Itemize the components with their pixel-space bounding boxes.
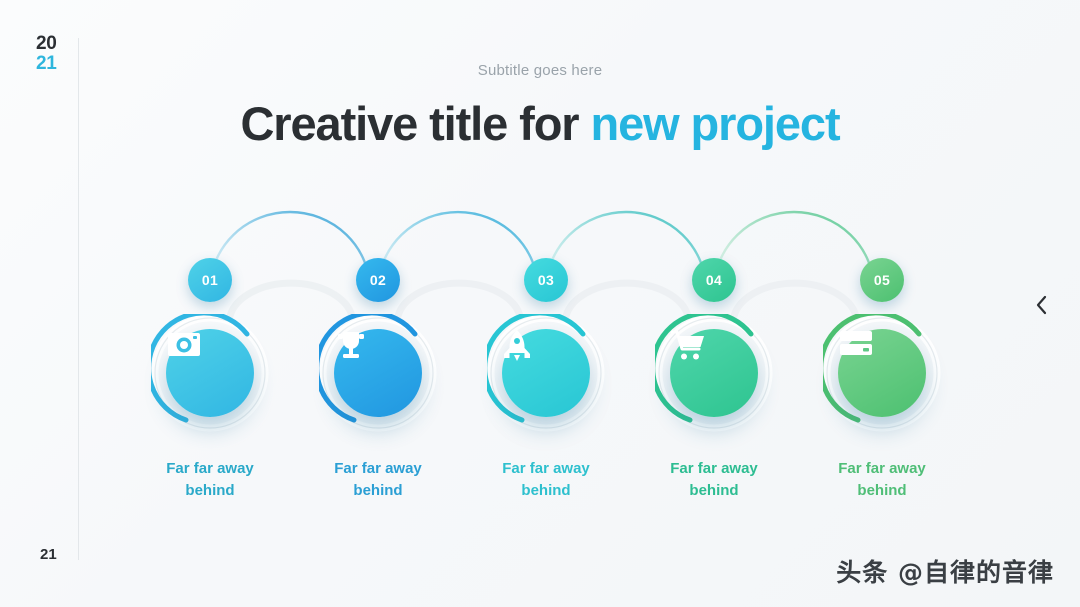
step-number: 05 xyxy=(874,272,890,288)
process-steps: 01 Far far away xyxy=(120,190,960,530)
step-icon-disc xyxy=(502,329,590,417)
subtitle: Subtitle goes here xyxy=(0,62,1080,79)
rocket-icon xyxy=(502,329,532,363)
step-badge: 04 xyxy=(692,258,736,302)
step-badge: 02 xyxy=(356,258,400,302)
caption-line-1: Far far away xyxy=(334,460,422,477)
step-number: 03 xyxy=(538,272,554,288)
shopping-cart-icon xyxy=(670,329,706,361)
caption-line-1: Far far away xyxy=(838,460,926,477)
step-badge: 01 xyxy=(188,258,232,302)
step-caption: Far far away behind xyxy=(798,458,966,502)
step-number: 04 xyxy=(706,272,722,288)
title-dark-part: Creative title for xyxy=(240,97,590,150)
step-number: 01 xyxy=(202,272,218,288)
step-ring xyxy=(823,314,941,432)
step-icon-disc xyxy=(334,329,422,417)
caption-line-2: behind xyxy=(521,482,570,499)
step-caption: Far far away behind xyxy=(630,458,798,502)
page-number: 21 xyxy=(40,546,57,563)
credit-card-icon xyxy=(838,329,874,357)
step-icon-disc xyxy=(670,329,758,417)
camera-icon xyxy=(166,329,202,359)
page-title: Creative title for new project xyxy=(0,96,1080,151)
title-accent-part: new project xyxy=(590,97,839,150)
slide: 20 21 21 Subtitle goes here Creative tit… xyxy=(0,0,1080,607)
year-top: 20 xyxy=(36,34,57,54)
caption-line-2: behind xyxy=(857,482,906,499)
prev-slide-button[interactable] xyxy=(1024,288,1058,322)
caption-line-1: Far far away xyxy=(502,460,590,477)
trophy-icon xyxy=(334,329,368,361)
step-badge: 05 xyxy=(860,258,904,302)
caption-line-2: behind xyxy=(689,482,738,499)
watermark: 头条 @自律的音律 xyxy=(836,553,1054,589)
step-ring xyxy=(151,314,269,432)
caption-line-1: Far far away xyxy=(166,460,254,477)
step-ring xyxy=(319,314,437,432)
caption-line-2: behind xyxy=(185,482,234,499)
step-caption: Far far away behind xyxy=(462,458,630,502)
step-caption: Far far away behind xyxy=(126,458,294,502)
step-badge: 03 xyxy=(524,258,568,302)
step-number: 02 xyxy=(370,272,386,288)
step-caption: Far far away behind xyxy=(294,458,462,502)
caption-line-1: Far far away xyxy=(670,460,758,477)
step-icon-disc xyxy=(838,329,926,417)
chevron-left-icon xyxy=(1033,294,1049,316)
caption-line-2: behind xyxy=(353,482,402,499)
step-icon-disc xyxy=(166,329,254,417)
step-ring xyxy=(487,314,605,432)
step-ring xyxy=(655,314,773,432)
